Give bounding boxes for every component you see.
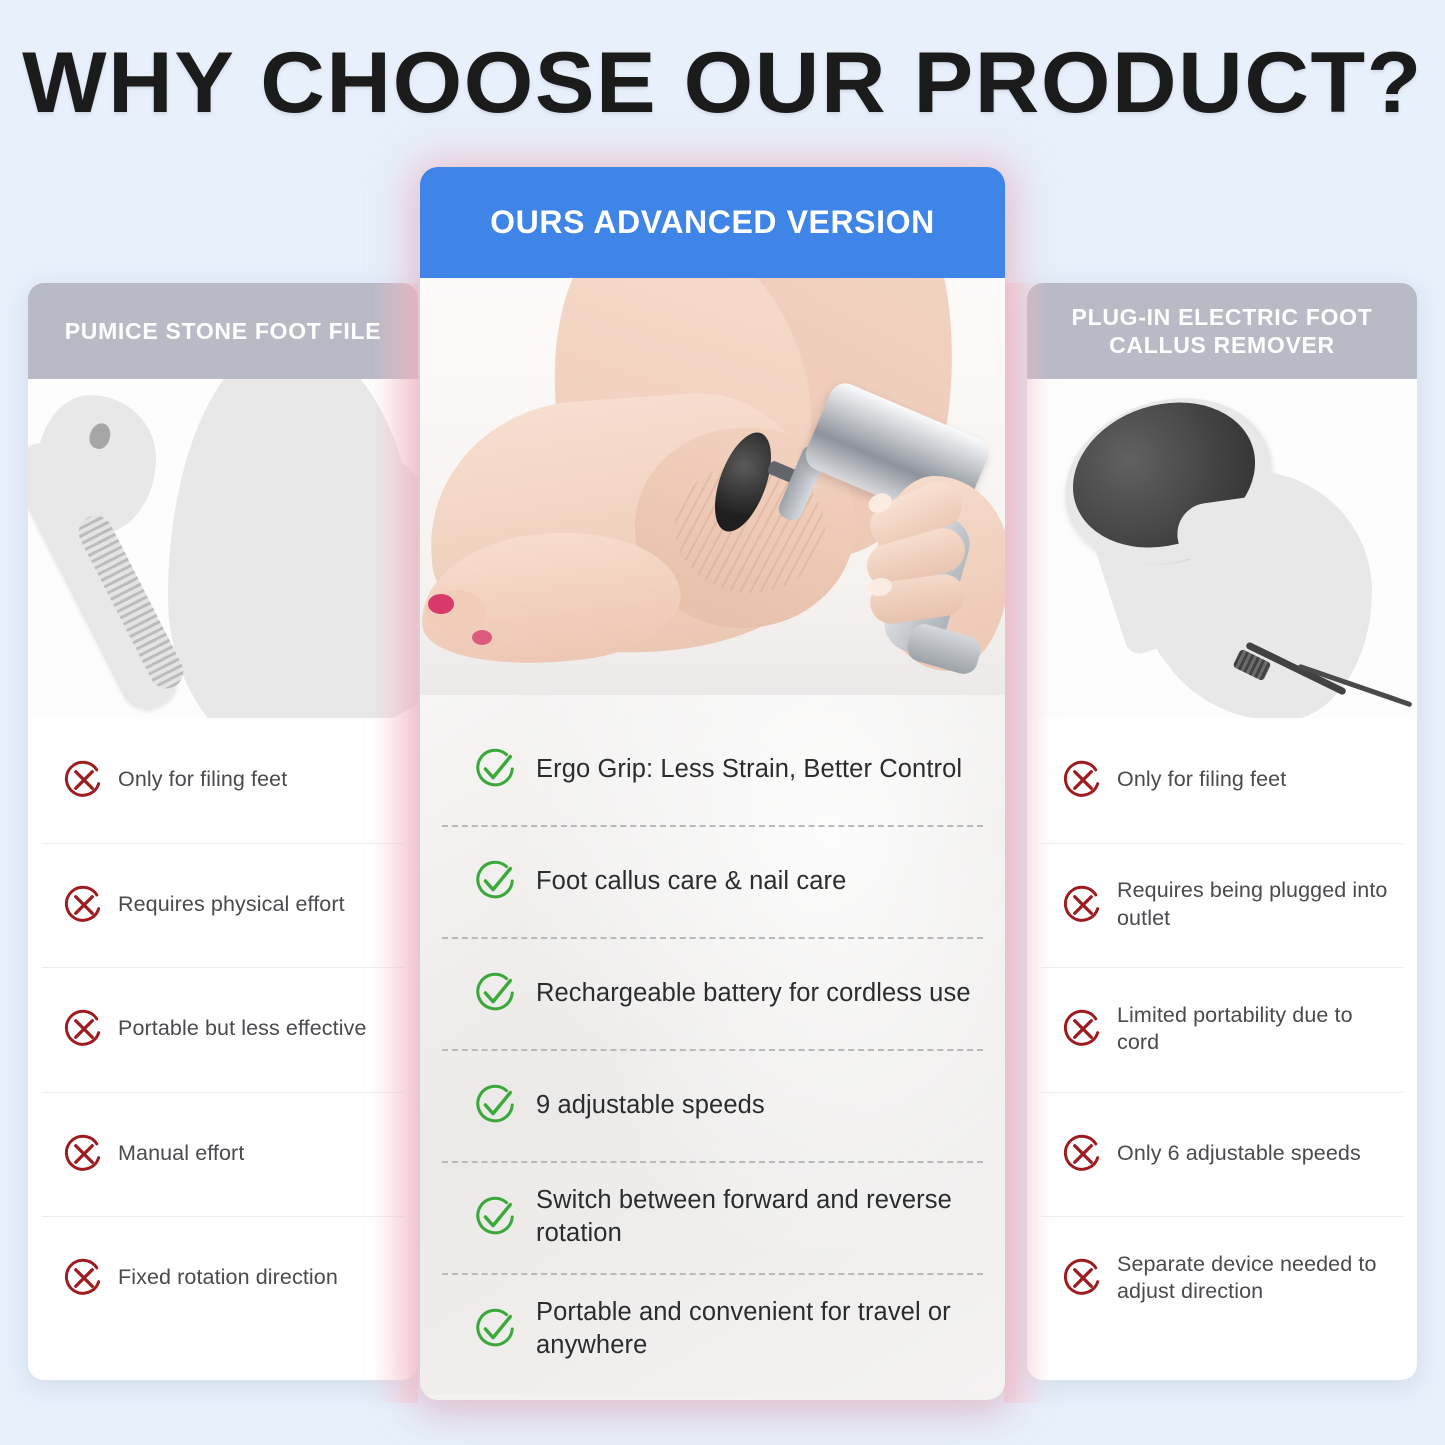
- list-item: Rechargeable battery for cordless use: [420, 937, 1005, 1049]
- column-card-left: PUMICE STONE FOOT FILE Only for filing f…: [28, 283, 418, 1380]
- list-item-label: Fixed rotation direction: [118, 1264, 338, 1292]
- check-icon: [472, 1082, 518, 1128]
- list-item: Fixed rotation direction: [28, 1216, 418, 1341]
- list-item: Limited portability due to cord: [1027, 967, 1417, 1092]
- feature-list-right: Only for filing feet Requires being plug…: [1027, 718, 1417, 1341]
- cross-icon: [1061, 758, 1105, 802]
- list-item-label: Only for filing feet: [1117, 766, 1286, 794]
- cross-icon: [62, 758, 106, 802]
- column-header-left-label: PUMICE STONE FOOT FILE: [65, 317, 382, 345]
- list-item-label: Only 6 adjustable speeds: [1117, 1140, 1361, 1168]
- product-photo-left: [28, 379, 418, 718]
- list-item-label: Only for filing feet: [118, 766, 287, 794]
- list-item: Requires being plugged into outlet: [1027, 843, 1417, 968]
- list-item: Separate device needed to adjust directi…: [1027, 1216, 1417, 1341]
- comparison-infographic: WHY CHOOSE OUR PRODUCT? PUMICE STONE FOO…: [0, 0, 1445, 1445]
- page-title: WHY CHOOSE OUR PRODUCT?: [0, 34, 1445, 133]
- list-item: 9 adjustable speeds: [420, 1049, 1005, 1161]
- list-item-label: Requires physical effort: [118, 891, 345, 919]
- cross-icon: [62, 883, 106, 927]
- list-item: Foot callus care & nail care: [420, 825, 1005, 937]
- column-card-center: OURS ADVANCED VERSION: [420, 167, 1005, 1400]
- cross-icon: [1061, 1007, 1105, 1051]
- list-item: Manual effort: [28, 1092, 418, 1217]
- photo-shape-nail-polish: [472, 630, 492, 645]
- list-item-label: Portable and convenient for travel or an…: [536, 1296, 977, 1361]
- feature-list-left: Only for filing feet Requires physical e…: [28, 718, 418, 1341]
- list-item: Only for filing feet: [28, 718, 418, 843]
- product-photo-right: [1027, 379, 1417, 718]
- check-icon: [472, 970, 518, 1016]
- list-item-label: Rechargeable battery for cordless use: [536, 977, 971, 1010]
- list-item-label: Ergo Grip: Less Strain, Better Control: [536, 753, 962, 786]
- check-icon: [472, 1194, 518, 1240]
- list-item-label: 9 adjustable speeds: [536, 1089, 765, 1122]
- column-header-left: PUMICE STONE FOOT FILE: [28, 283, 418, 379]
- list-item: Only for filing feet: [1027, 718, 1417, 843]
- list-item-label: Switch between forward and reverse rotat…: [536, 1184, 977, 1249]
- list-item-label: Foot callus care & nail care: [536, 865, 846, 898]
- photo-shape-nail-polish: [428, 594, 454, 614]
- cross-icon: [62, 1132, 106, 1176]
- list-item: Portable and convenient for travel or an…: [420, 1273, 1005, 1385]
- list-item-label: Limited portability due to cord: [1117, 1002, 1399, 1057]
- product-photo-center: [420, 278, 1005, 695]
- cross-icon: [62, 1256, 106, 1300]
- cross-icon: [1061, 1132, 1105, 1176]
- column-header-right-label: PLUG-IN ELECTRIC FOOT CALLUS REMOVER: [1053, 303, 1391, 359]
- check-icon: [472, 858, 518, 904]
- cross-icon: [1061, 883, 1105, 927]
- column-card-right: PLUG-IN ELECTRIC FOOT CALLUS REMOVER: [1027, 283, 1417, 1380]
- list-item: Only 6 adjustable speeds: [1027, 1092, 1417, 1217]
- list-item: Ergo Grip: Less Strain, Better Control: [420, 713, 1005, 825]
- column-header-right: PLUG-IN ELECTRIC FOOT CALLUS REMOVER: [1027, 283, 1417, 379]
- feature-list-center: Ergo Grip: Less Strain, Better Control F…: [420, 695, 1005, 1395]
- column-header-center-label: OURS ADVANCED VERSION: [490, 204, 935, 241]
- list-item: Switch between forward and reverse rotat…: [420, 1161, 1005, 1273]
- list-item-label: Separate device needed to adjust directi…: [1117, 1251, 1399, 1306]
- list-item: Portable but less effective: [28, 967, 418, 1092]
- list-item-label: Requires being plugged into outlet: [1117, 877, 1399, 932]
- cross-icon: [62, 1007, 106, 1051]
- list-item: Requires physical effort: [28, 843, 418, 968]
- check-icon: [472, 1306, 518, 1352]
- cross-icon: [1061, 1256, 1105, 1300]
- column-header-center: OURS ADVANCED VERSION: [420, 167, 1005, 278]
- check-icon: [472, 746, 518, 792]
- list-item-label: Manual effort: [118, 1140, 244, 1168]
- list-item-label: Portable but less effective: [118, 1015, 367, 1043]
